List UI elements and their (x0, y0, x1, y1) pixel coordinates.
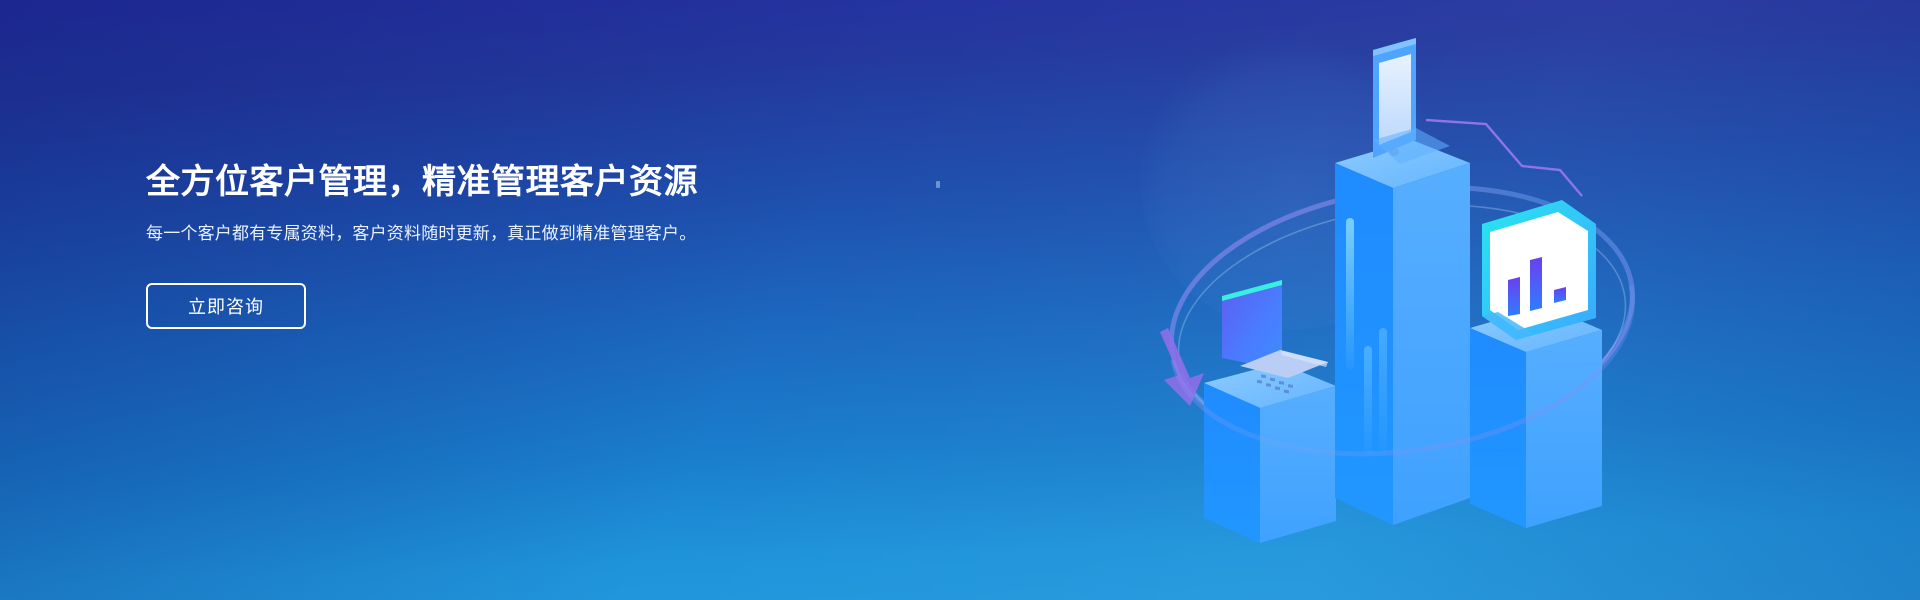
page-title: 全方位客户管理，精准管理客户资源 (146, 160, 786, 204)
background-speck (936, 181, 940, 188)
monitor-icon (1482, 200, 1596, 340)
hero-illustration (1130, 28, 1670, 573)
hero-banner: 全方位客户管理，精准管理客户资源 每一个客户都有专属资料，客户资料随时更新，真正… (0, 0, 1920, 600)
center-pillar (1335, 140, 1470, 525)
consult-now-button[interactable]: 立即咨询 (146, 283, 306, 329)
tablet-icon (1373, 38, 1450, 164)
hero-copy-block: 全方位客户管理，精准管理客户资源 每一个客户都有专属资料，客户资料随时更新，真正… (146, 160, 786, 329)
hero-subtitle: 每一个客户都有专属资料，客户资料随时更新，真正做到精准管理客户。 (146, 204, 731, 247)
